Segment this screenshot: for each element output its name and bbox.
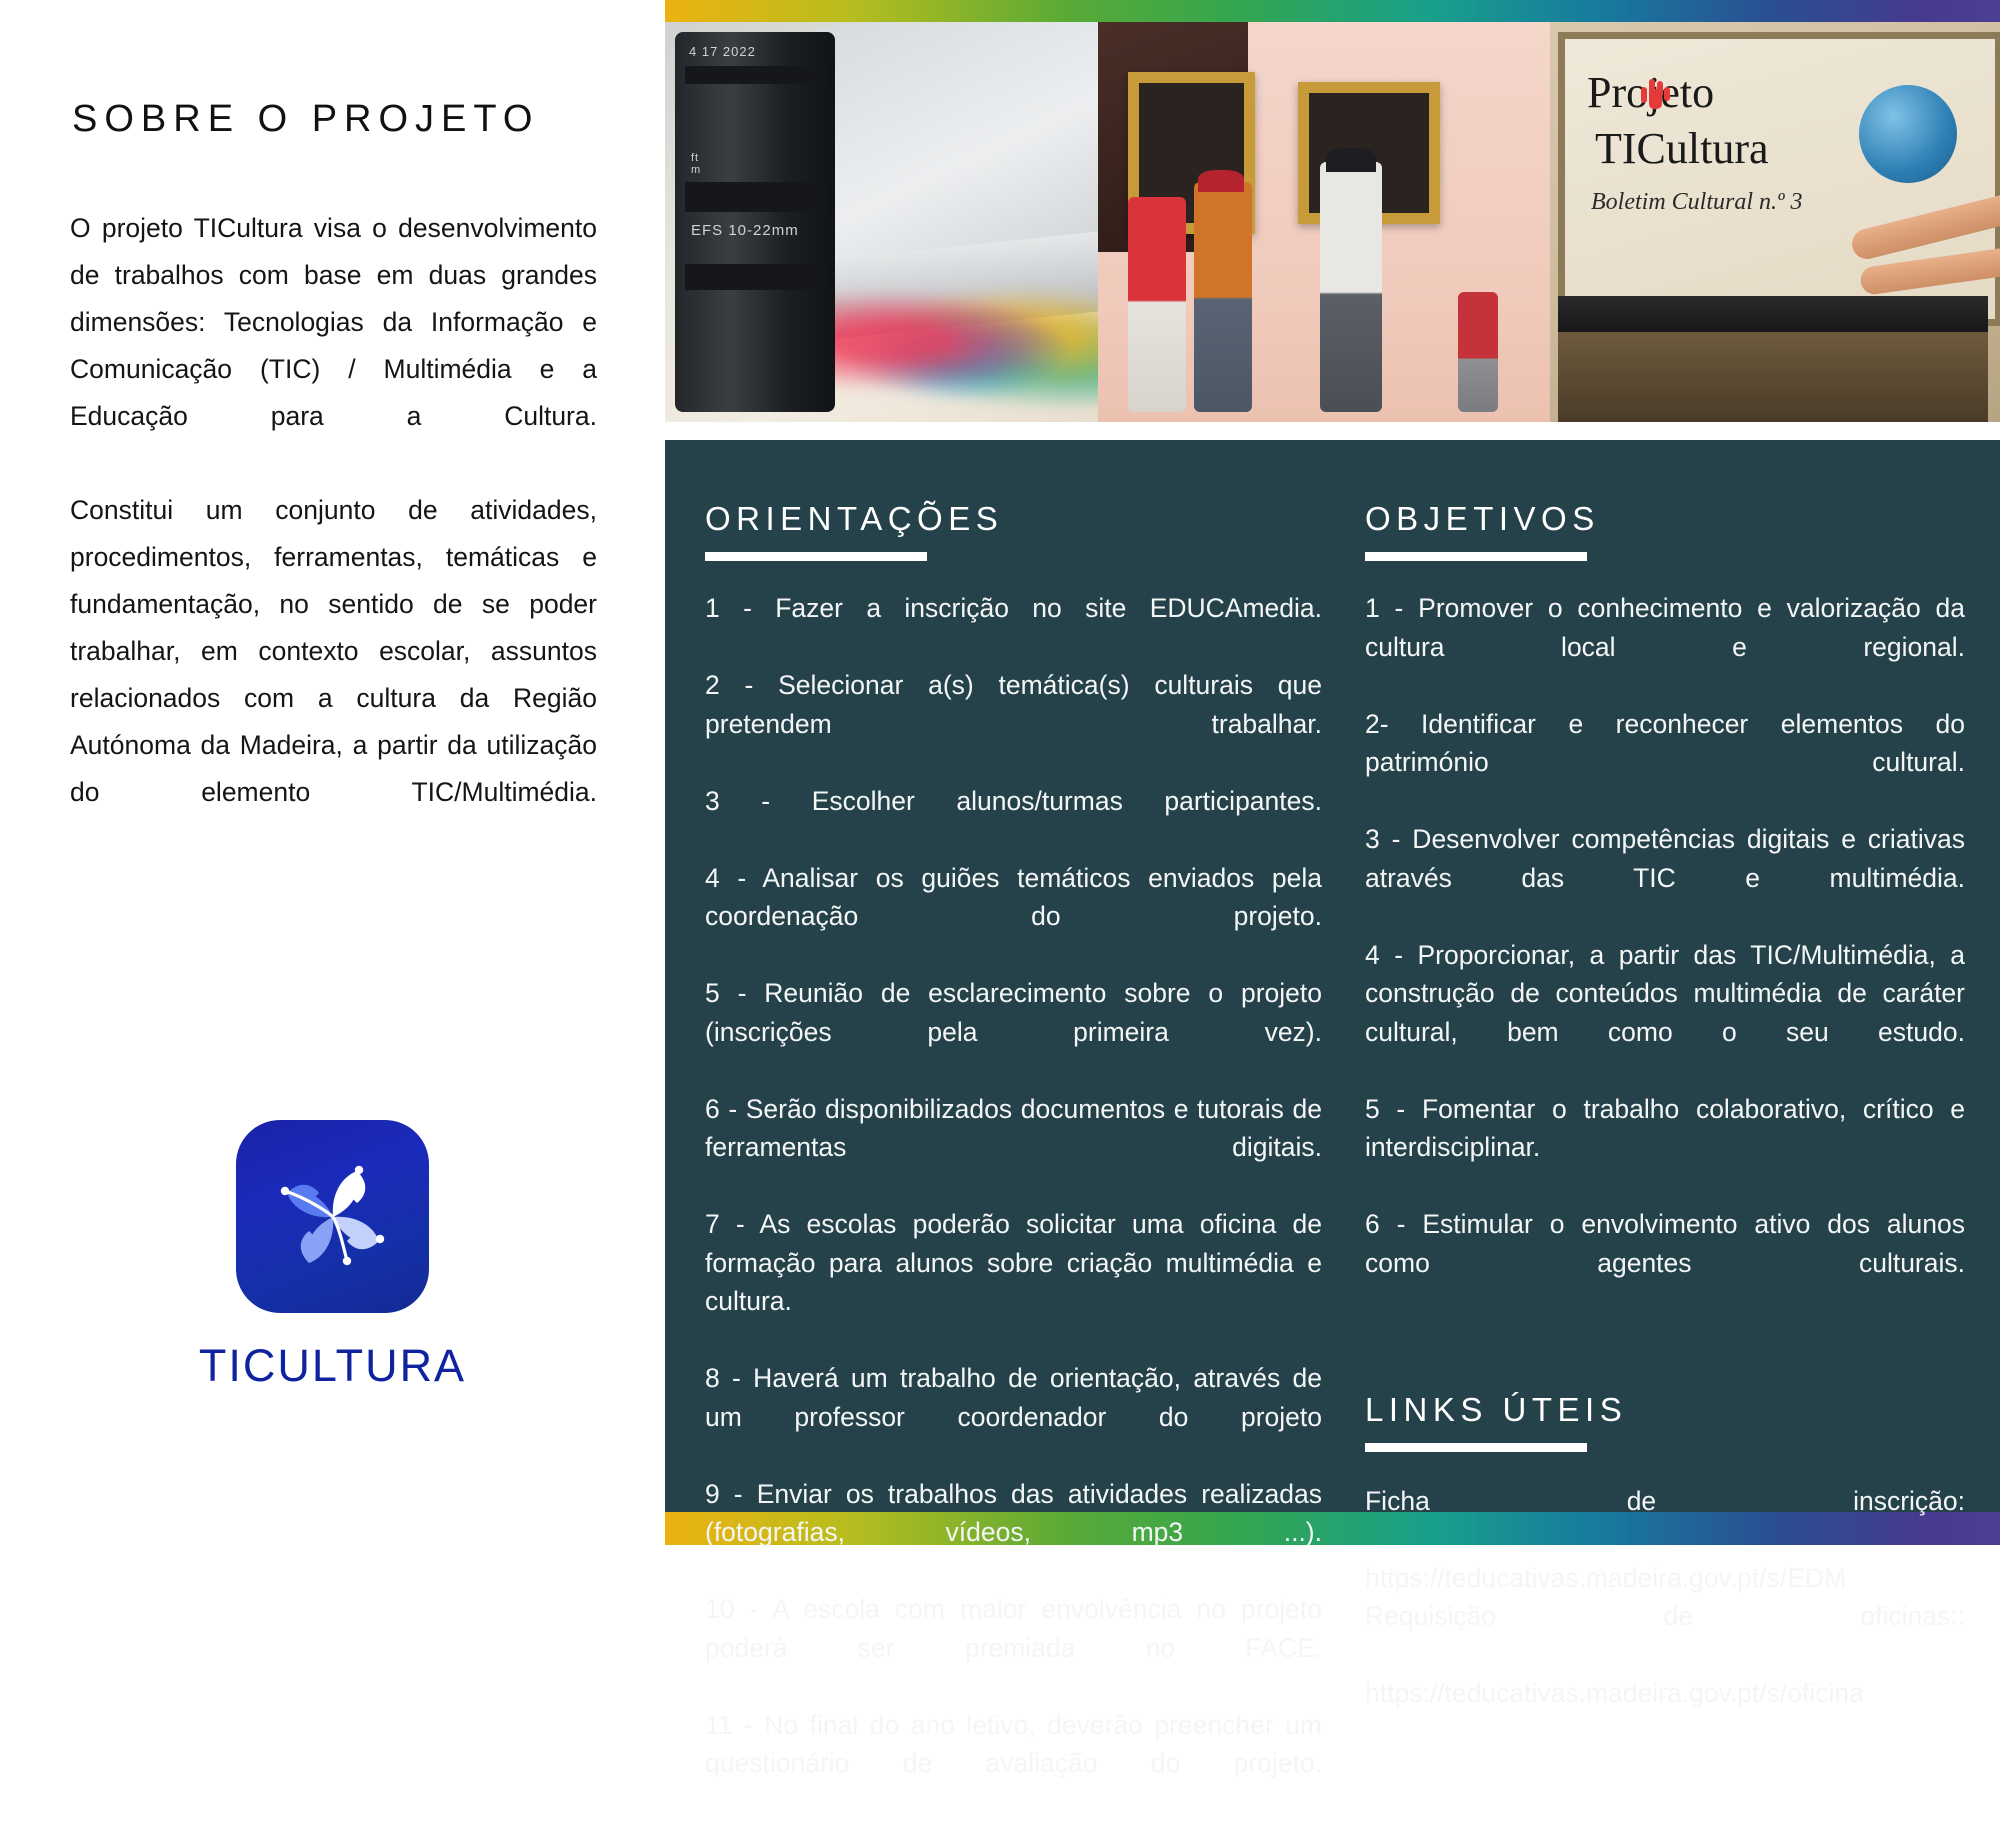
link-label-2: Requisição de oficinas:: <box>1365 1597 1965 1674</box>
wooden-stand <box>1558 332 1988 422</box>
list-item: 5 - Reunião de esclarecimento sobre o pr… <box>705 974 1322 1090</box>
brochure-page: SOBRE O PROJETO O projeto TICultura visa… <box>0 0 2000 1545</box>
list-item: 6 - Estimular o envolvimento ativo dos a… <box>1365 1205 1965 1321</box>
page-title: SOBRE O PROJETO <box>72 98 539 141</box>
link-url-1[interactable]: https://teducativas.madeira.gov.pt/s/EDM <box>1365 1559 1965 1598</box>
objetivos-heading: OBJETIVOS <box>1365 500 1965 538</box>
list-item: 8 - Haverá um trabalho de orientação, at… <box>705 1359 1322 1475</box>
about-paragraph-2: Constitui um conjunto de atividades, pro… <box>70 487 597 863</box>
photo-camera-lens-and-laptop: 4 17 2022 EFS 10-22mm ftm <box>665 22 1098 422</box>
list-item: 2 - Selecionar a(s) temática(s) culturai… <box>705 666 1322 782</box>
orientacoes-rule <box>705 552 927 561</box>
brand-name: TICULTURA <box>0 1340 665 1392</box>
objetivos-rule <box>1365 552 1587 561</box>
list-item: 11 - No final do ano letivo, deverão pre… <box>705 1706 1322 1821</box>
list-item: 1 - Promover o conhecimento e valorizaçã… <box>1365 589 1965 705</box>
orientacoes-heading: ORIENTAÇÕES <box>705 500 1322 538</box>
ticultura-logo-icon <box>236 1120 429 1313</box>
list-item: 3 - Escolher alunos/turmas participantes… <box>705 782 1322 859</box>
list-item: 4 - Analisar os guiões temáticos enviado… <box>705 859 1322 975</box>
photo-strip: 4 17 2022 EFS 10-22mm ftm Projeto TICult… <box>665 22 2000 422</box>
link-url-2[interactable]: https://teducativas.madeira.gov.pt/s/ofi… <box>1365 1674 1965 1713</box>
student-figure-3 <box>1320 162 1382 412</box>
photo-ticultura-whiteboard: Projeto TICultura Boletim Cultural n.º 3 <box>1550 22 2000 422</box>
list-item: 5 - Fomentar o trabalho colaborativo, cr… <box>1365 1090 1965 1206</box>
camera-lens-icon: 4 17 2022 EFS 10-22mm ftm <box>675 32 835 412</box>
orientacoes-column: ORIENTAÇÕES 1 - Fazer a inscrição no sit… <box>705 500 1322 1821</box>
list-item: 7 - As escolas poderão solicitar uma ofi… <box>705 1205 1322 1359</box>
handprint-icon <box>1635 75 1675 115</box>
brand-logo-block: TICULTURA <box>0 1120 665 1392</box>
dark-content-panel: ORIENTAÇÕES 1 - Fazer a inscrição no sit… <box>665 440 2000 1512</box>
link-label-1: Ficha de inscrição: <box>1365 1482 1965 1559</box>
globe-icon <box>1859 85 1957 183</box>
student-figure-1 <box>1128 197 1186 412</box>
student-figure-4 <box>1458 292 1498 412</box>
pinwheel-icon <box>268 1152 398 1282</box>
list-item: 9 - Enviar os trabalhos das atividades r… <box>705 1475 1322 1591</box>
objetivos-column: OBJETIVOS 1 - Promover o conhecimento e … <box>1365 500 1965 1713</box>
cap-icon-red <box>1198 170 1244 192</box>
list-item: 2- Identificar e reconhecer elementos do… <box>1365 705 1965 821</box>
about-body: O projeto TICultura visa o desenvolvimen… <box>70 205 597 863</box>
links-uteis-block: LINKS ÚTEIS Ficha de inscrição: https://… <box>1365 1391 1965 1713</box>
links-list: Ficha de inscrição: https://teducativas.… <box>1365 1482 1965 1713</box>
list-item: 4 - Proporcionar, a partir das TIC/Multi… <box>1365 936 1965 1090</box>
list-item: 3 - Desenvolver competências digitais e … <box>1365 820 1965 936</box>
display-bezel <box>1558 296 1988 332</box>
list-item: 6 - Serão disponibilizados documentos e … <box>705 1090 1322 1206</box>
list-item: 1 - Fazer a inscrição no site EDUCAmedia… <box>705 589 1322 666</box>
hat-icon-black <box>1326 148 1376 172</box>
top-gradient-bar <box>665 0 2000 22</box>
student-figure-2 <box>1194 182 1252 412</box>
board-subtitle: Boletim Cultural n.º 3 <box>1591 189 1802 216</box>
about-paragraph-1: O projeto TICultura visa o desenvolvimen… <box>70 205 597 487</box>
colorful-artwork-blur <box>815 287 1098 407</box>
links-heading: LINKS ÚTEIS <box>1365 1391 1965 1429</box>
orientacoes-list: 1 - Fazer a inscrição no site EDUCAmedia… <box>705 589 1322 1821</box>
list-item: 10 - A escola com maior envolvência no p… <box>705 1590 1322 1706</box>
left-column: SOBRE O PROJETO O projeto TICultura visa… <box>0 0 665 1545</box>
links-rule <box>1365 1443 1587 1452</box>
photo-students-in-museum <box>1098 22 1550 422</box>
board-title-2: TICultura <box>1595 123 1769 174</box>
objetivos-list: 1 - Promover o conhecimento e valorizaçã… <box>1365 589 1965 1321</box>
